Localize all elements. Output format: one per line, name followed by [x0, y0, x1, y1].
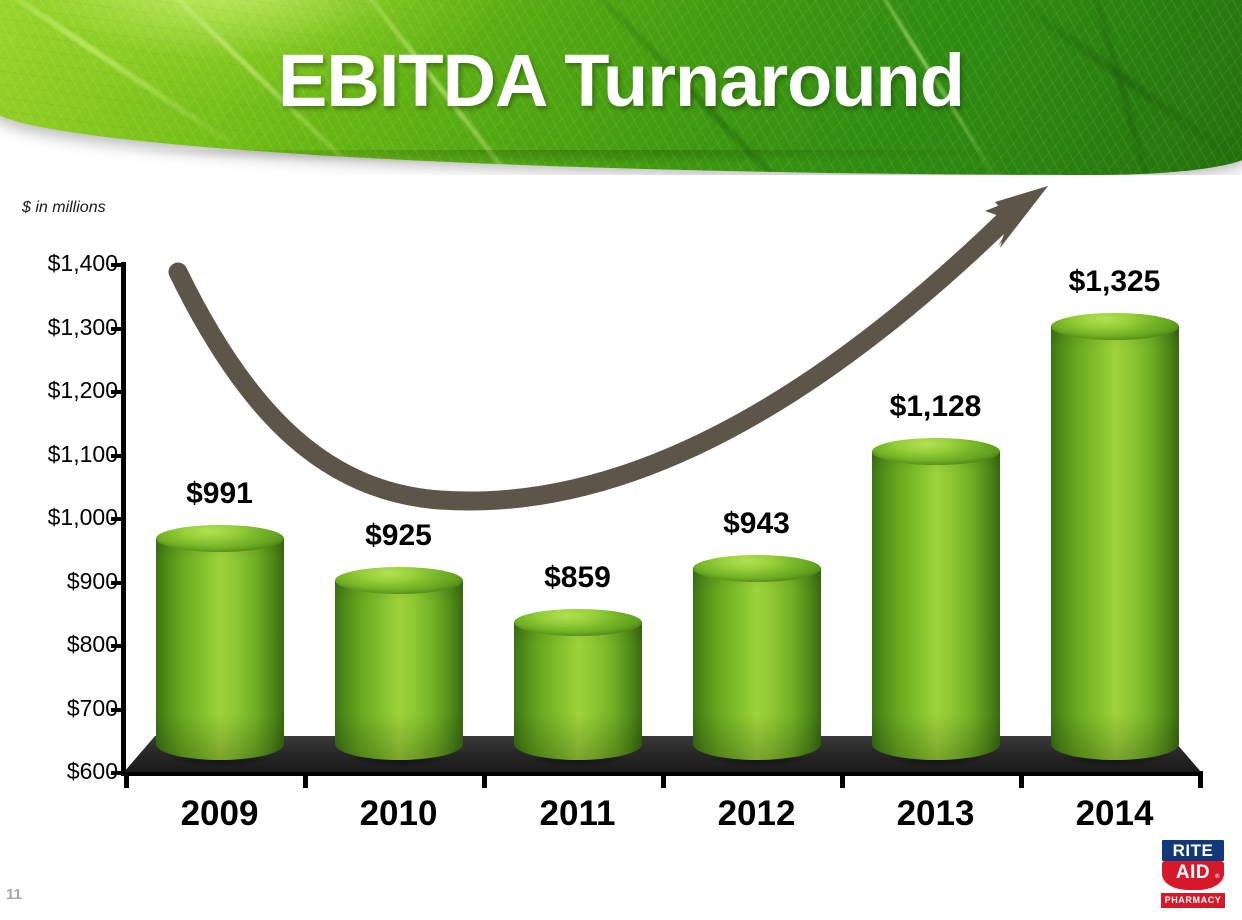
x-axis-tick — [124, 771, 129, 788]
x-axis-tick — [1198, 771, 1203, 788]
bar-body — [693, 568, 821, 760]
bar-2010[interactable] — [335, 567, 463, 760]
y-axis-tick-label: $1,200 — [48, 377, 118, 404]
bar-value-label: $1,128 — [836, 390, 1036, 424]
y-axis-tick-label: $600 — [67, 758, 118, 785]
y-axis-tick-label: $1,100 — [48, 441, 118, 468]
y-axis-tick-label: $700 — [67, 695, 118, 722]
bar-2012[interactable] — [693, 555, 821, 760]
logo-aid-text: AID ® — [1162, 861, 1224, 890]
bar-body — [872, 451, 1000, 760]
bar-chart: $1,400$1,300$1,200$1,100$1,000$900$800$7… — [0, 0, 1242, 920]
x-axis-label-2009: 2009 — [120, 794, 320, 834]
registered-mark: ® — [1215, 865, 1220, 889]
bar-2011[interactable] — [514, 609, 642, 760]
x-axis-tick — [840, 771, 845, 788]
x-axis-label-2014: 2014 — [1015, 794, 1215, 834]
bar-cap — [156, 525, 284, 552]
bar-2009[interactable] — [156, 525, 284, 760]
x-axis-label-2012: 2012 — [657, 794, 857, 834]
bar-cap — [514, 609, 642, 636]
logo-aid-label: AID — [1176, 862, 1210, 883]
bar-value-label: $859 — [478, 561, 678, 595]
bar-cap — [693, 555, 821, 582]
page-number: 11 — [6, 886, 22, 903]
x-axis-tick — [1019, 771, 1024, 788]
bar-2014[interactable] — [1051, 313, 1179, 760]
x-axis-tick — [303, 771, 308, 788]
y-axis-tick-label: $1,000 — [48, 504, 118, 531]
bar-value-label: $943 — [657, 507, 857, 541]
bar-body — [1051, 326, 1179, 760]
bar-body — [514, 622, 642, 760]
bar-cap — [335, 567, 463, 594]
bar-value-label: $991 — [120, 477, 320, 511]
bar-cap — [1051, 313, 1179, 340]
x-axis-tick — [661, 771, 666, 788]
y-axis-tick-label: $1,300 — [48, 314, 118, 341]
x-axis-label-2011: 2011 — [478, 794, 678, 834]
bar-body — [335, 580, 463, 760]
y-axis-tick-label: $800 — [67, 631, 118, 658]
x-axis-label-2013: 2013 — [836, 794, 1036, 834]
slide: EBITDA Turnaround $ in millions $1,400$1… — [0, 0, 1242, 920]
bar-body — [156, 538, 284, 760]
x-axis-label-2010: 2010 — [299, 794, 499, 834]
bar-cap — [872, 438, 1000, 465]
rite-aid-logo: RITE AID ® PHARMACY — [1160, 838, 1226, 910]
logo-rite-text: RITE — [1160, 838, 1226, 863]
bar-value-label: $925 — [299, 519, 499, 553]
bar-value-label: $1,325 — [1015, 265, 1215, 299]
x-axis-tick — [482, 771, 487, 788]
y-axis-tick-label: $900 — [67, 568, 118, 595]
logo-pharmacy-text: PHARMACY — [1161, 893, 1225, 908]
page-title: EBITDA Turnaround — [0, 38, 1242, 123]
y-axis-tick-label: $1,400 — [48, 250, 118, 277]
bar-2013[interactable] — [872, 438, 1000, 760]
